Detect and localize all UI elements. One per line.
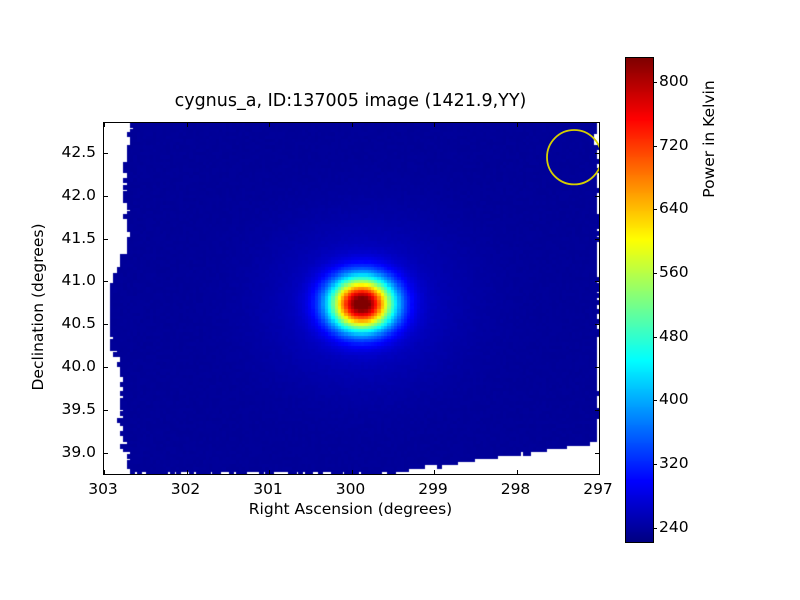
colorbar-tick-label: 560: [659, 263, 689, 281]
y-tick-label: 40.0: [41, 357, 96, 375]
x-tick-mark: [104, 123, 105, 127]
y-tick-mark: [104, 281, 108, 282]
x-tick-mark: [517, 123, 518, 127]
image-axes[interactable]: [103, 122, 600, 475]
page-title: cygnus_a, ID:137005 image (1421.9,YY): [103, 91, 598, 111]
x-tick-mark: [599, 123, 600, 127]
colorbar-tick-label: 640: [659, 199, 689, 217]
colorbar-label: Power in Kelvin: [700, 0, 718, 299]
colorbar-tick-label: 320: [659, 454, 689, 472]
y-tick-mark: [595, 410, 599, 411]
x-tick-label: 302: [171, 480, 201, 498]
colorbar-tick-label: 400: [659, 390, 689, 408]
x-tick-label: 298: [501, 480, 531, 498]
y-tick-label: 42.5: [41, 143, 96, 161]
y-tick-label: 39.0: [41, 443, 96, 461]
x-tick-mark: [434, 470, 435, 474]
x-tick-mark: [517, 470, 518, 474]
colorbar-axes[interactable]: [625, 57, 654, 543]
y-axis-label: Declination (degrees): [29, 207, 47, 407]
colorbar-tick-mark: [653, 337, 657, 338]
y-tick-mark: [595, 196, 599, 197]
colorbar-tick-label: 240: [659, 518, 689, 536]
colorbar-tick-label: 720: [659, 136, 689, 154]
x-tick-mark: [599, 470, 600, 474]
colorbar-tick-mark: [653, 82, 657, 83]
x-tick-mark: [104, 470, 105, 474]
y-tick-label: 41.0: [41, 271, 96, 289]
x-tick-mark: [187, 123, 188, 127]
y-tick-mark: [595, 239, 599, 240]
x-tick-mark: [352, 470, 353, 474]
y-tick-label: 42.0: [41, 186, 96, 204]
colorbar-gradient: [626, 58, 653, 542]
y-tick-mark: [595, 453, 599, 454]
y-tick-mark: [104, 153, 108, 154]
y-tick-label: 41.5: [41, 229, 96, 247]
colorbar-tick-mark: [653, 400, 657, 401]
x-tick-mark: [352, 123, 353, 127]
colorbar-tick-mark: [653, 209, 657, 210]
y-tick-mark: [104, 453, 108, 454]
colorbar-tick-mark: [653, 146, 657, 147]
y-tick-mark: [104, 239, 108, 240]
x-tick-mark: [269, 470, 270, 474]
x-tick-label: 300: [336, 480, 366, 498]
x-tick-mark: [269, 123, 270, 127]
colorbar-tick-label: 480: [659, 327, 689, 345]
y-tick-mark: [595, 324, 599, 325]
y-tick-mark: [595, 367, 599, 368]
y-tick-mark: [104, 324, 108, 325]
x-axis-label: Right Ascension (degrees): [103, 500, 598, 518]
y-tick-mark: [104, 367, 108, 368]
y-tick-mark: [104, 410, 108, 411]
x-tick-label: 297: [583, 480, 613, 498]
colorbar-tick-mark: [653, 273, 657, 274]
y-tick-label: 40.5: [41, 314, 96, 332]
y-tick-mark: [595, 281, 599, 282]
x-tick-mark: [187, 470, 188, 474]
figure-canvas: cygnus_a, ID:137005 image (1421.9,YY) 30…: [0, 0, 800, 600]
beam-marker-circle: [547, 130, 600, 184]
y-tick-mark: [104, 196, 108, 197]
colorbar-tick-mark: [653, 464, 657, 465]
y-tick-label: 39.5: [41, 400, 96, 418]
annotation-overlay: [104, 123, 599, 474]
x-tick-mark: [434, 123, 435, 127]
y-tick-mark: [595, 153, 599, 154]
colorbar-tick-mark: [653, 528, 657, 529]
x-tick-label: 301: [253, 480, 283, 498]
colorbar-tick-label: 800: [659, 72, 689, 90]
x-tick-label: 299: [418, 480, 448, 498]
x-tick-label: 303: [88, 480, 118, 498]
